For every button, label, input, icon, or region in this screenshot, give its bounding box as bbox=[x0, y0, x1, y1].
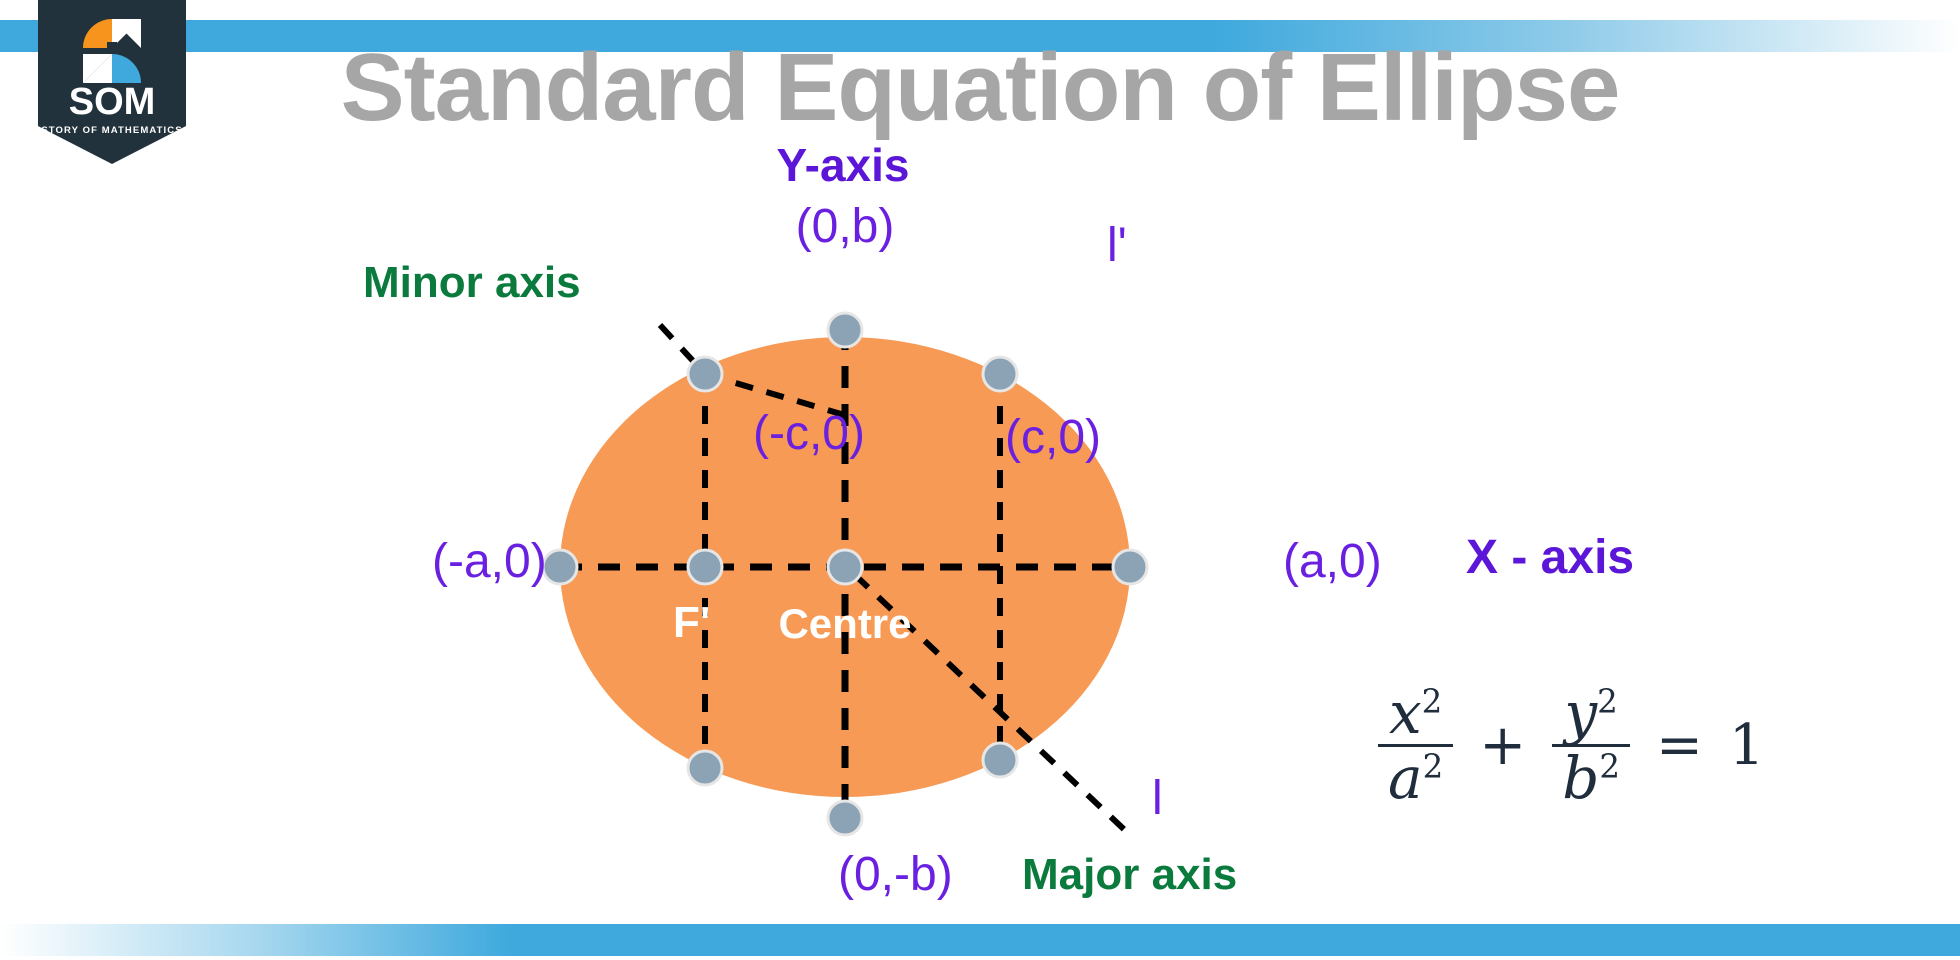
ellipse-diagram bbox=[0, 0, 1960, 960]
major-axis-label: Major axis bbox=[1022, 853, 1237, 897]
directrix-upper-label: l' bbox=[1107, 222, 1127, 270]
ellipse-standard-equation: x2 a2 + y2 b2 = 1 bbox=[1378, 682, 1765, 809]
slide-canvas: SOM STORY OF MATHEMATICS Standard Equati… bbox=[0, 0, 1960, 960]
fraction-numerator-x: x2 bbox=[1379, 682, 1452, 744]
equals-operator: = bbox=[1656, 713, 1703, 778]
focus-left-name: F' bbox=[673, 601, 710, 645]
fraction-x-over-a: x2 a2 bbox=[1378, 682, 1453, 809]
top-vertex-label: (0,b) bbox=[796, 203, 895, 251]
right-vertex-label: (a,0) bbox=[1283, 538, 1382, 586]
fraction-y-over-b: y2 b2 bbox=[1552, 682, 1630, 809]
minor-axis-label: Minor axis bbox=[363, 261, 581, 305]
focus-right-name: F bbox=[1147, 597, 1175, 643]
marker-focus-left bbox=[688, 550, 722, 584]
plus-operator: + bbox=[1479, 713, 1526, 778]
y-axis-label: Y-axis bbox=[777, 142, 910, 188]
focus-right-label: (c,0) bbox=[1005, 414, 1101, 462]
marker-latus-right-bottom bbox=[983, 743, 1017, 777]
bottom-accent-bar bbox=[0, 924, 1960, 956]
fraction-denominator-a: a2 bbox=[1378, 747, 1453, 809]
marker-bottom-vertex bbox=[828, 801, 862, 835]
centre-label: Centre bbox=[778, 603, 911, 645]
marker-centre bbox=[828, 550, 862, 584]
fraction-denominator-b: b2 bbox=[1552, 747, 1630, 809]
fraction-numerator-y: y2 bbox=[1554, 682, 1627, 744]
marker-right-vertex bbox=[1113, 550, 1147, 584]
x-axis-label: X - axis bbox=[1466, 534, 1634, 582]
marker-left-vertex bbox=[543, 550, 577, 584]
marker-latus-right-top bbox=[983, 357, 1017, 391]
marker-latus-left-bottom bbox=[688, 751, 722, 785]
equation-result: 1 bbox=[1729, 713, 1765, 778]
marker-latus-left-top bbox=[688, 357, 722, 391]
bottom-vertex-label: (0,-b) bbox=[838, 851, 953, 899]
left-vertex-label: (-a,0) bbox=[432, 538, 547, 586]
directrix-lower-label: l bbox=[1152, 775, 1163, 823]
marker-top-vertex bbox=[828, 313, 862, 347]
focus-left-label: (-c,0) bbox=[753, 410, 865, 458]
